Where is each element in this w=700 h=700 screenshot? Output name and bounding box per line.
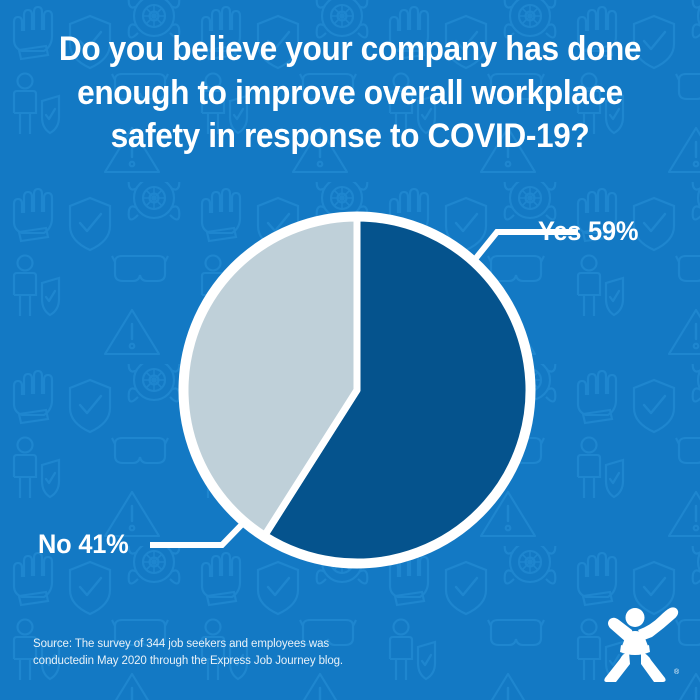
pie-chart bbox=[0, 0, 700, 700]
registered-mark: ® bbox=[674, 668, 680, 676]
slice-label-yes: Yes 59% bbox=[538, 216, 638, 247]
infographic-canvas: Do you believe your company has done eno… bbox=[0, 0, 700, 700]
slice-label-no: No 41% bbox=[38, 529, 129, 560]
source-note: Source: The survey of 344 job seekers an… bbox=[33, 636, 363, 671]
source-line-1: Source: The survey of 344 job seekers an… bbox=[33, 636, 363, 653]
source-line-2: conductedin May 2020 through the Express… bbox=[33, 653, 363, 670]
express-employment-professionals-logo: ® bbox=[594, 604, 682, 682]
